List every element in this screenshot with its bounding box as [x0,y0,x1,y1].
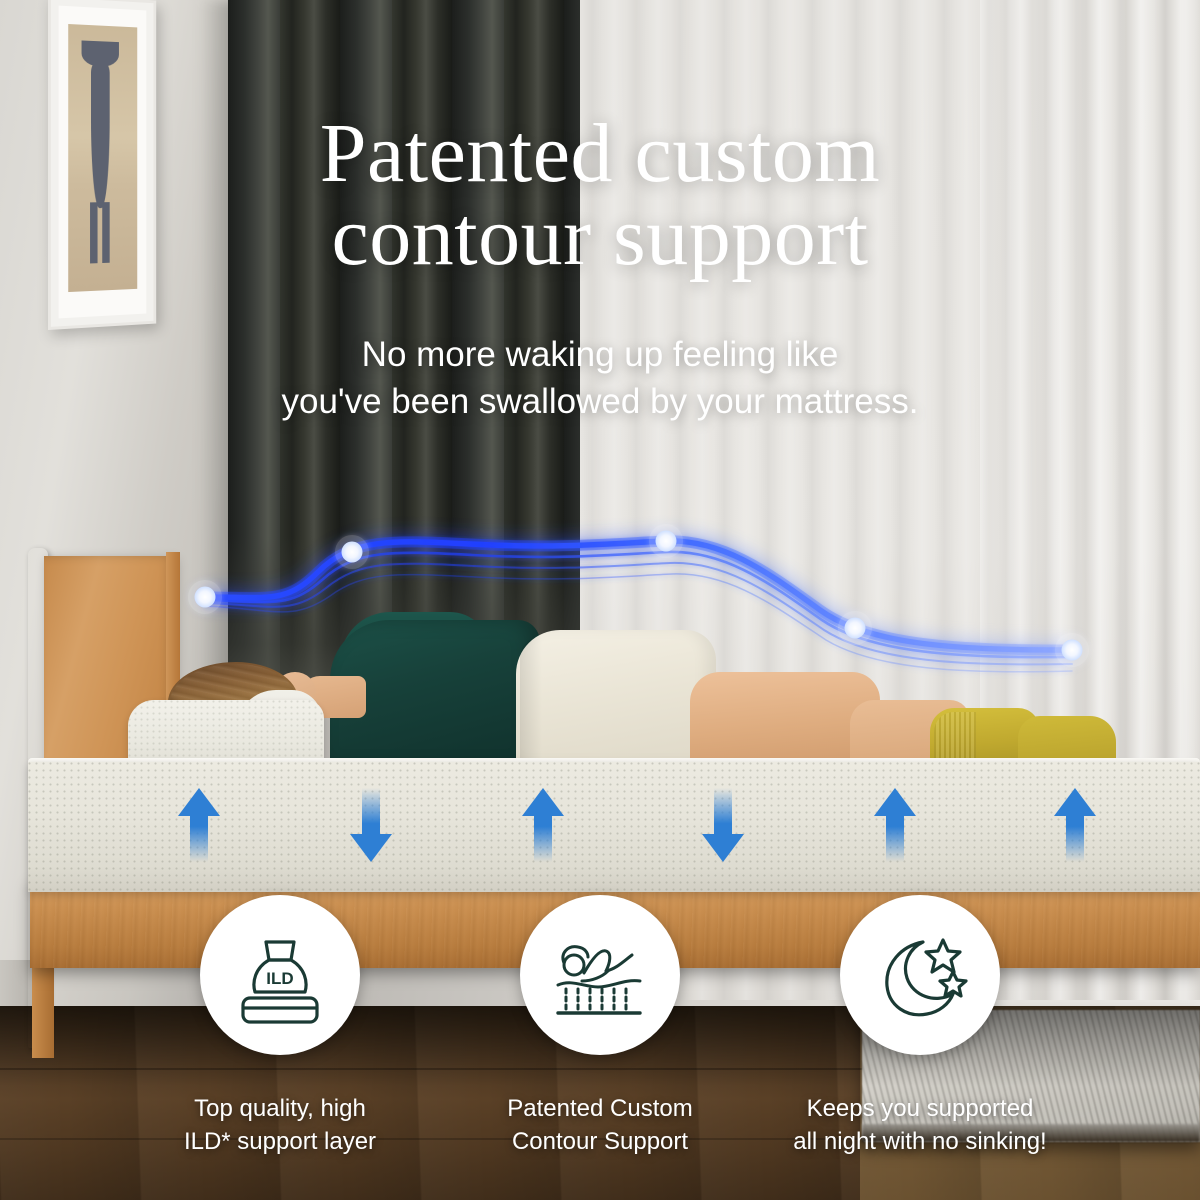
promo-image: Patented custom contour support No more … [0,0,1200,1200]
support-arrow-up [1052,786,1098,864]
spine-node-4 [845,618,866,639]
feature-caption-contour-line-1: Patented Custom [507,1095,692,1122]
feature-caption-ild: Top quality, high ILD* support layer [130,1092,430,1158]
feature-badge-ild: ILD [200,895,360,1055]
subhead-line-2: you've been swallowed by your mattress. [0,379,1200,426]
support-arrow-up [520,786,566,864]
feature-badge-sleep [840,895,1000,1055]
spine-node-1 [195,587,216,608]
page-subtitle: No more waking up feeling like you've be… [0,332,1200,425]
support-arrow-up [872,786,918,864]
feature-caption-ild-line-1: Top quality, high [194,1095,366,1122]
subhead-line-1: No more waking up feeling like [362,335,839,374]
page-title: Patented custom contour support [0,112,1200,278]
support-arrow-down [348,786,394,864]
spine-node-3 [656,531,677,552]
support-arrow-up [176,786,222,864]
spine-node-2 [342,542,363,563]
ild-icon-label: ILD [266,969,293,988]
feature-badge-contour [520,895,680,1055]
support-arrow-down [700,786,746,864]
headline-line-1: Patented custom [320,107,880,200]
spine-contour-curve [0,500,1200,720]
feature-caption-sleep-line-2: all night with no sinking! [770,1125,1070,1158]
feature-caption-contour-line-2: Contour Support [450,1125,750,1158]
feature-caption-sleep-line-1: Keeps you supported [807,1095,1034,1122]
feature-caption-ild-line-2: ILD* support layer [130,1125,430,1158]
headline-line-2: contour support [0,195,1200,278]
ild-weight-on-mattress-icon: ILD [225,920,335,1030]
spine-node-5 [1062,640,1083,661]
moon-and-stars-icon [865,920,975,1030]
person-on-contour-mattress-icon [544,919,656,1031]
feature-caption-sleep: Keeps you supported all night with no si… [770,1092,1070,1158]
feature-caption-contour: Patented Custom Contour Support [450,1092,750,1158]
